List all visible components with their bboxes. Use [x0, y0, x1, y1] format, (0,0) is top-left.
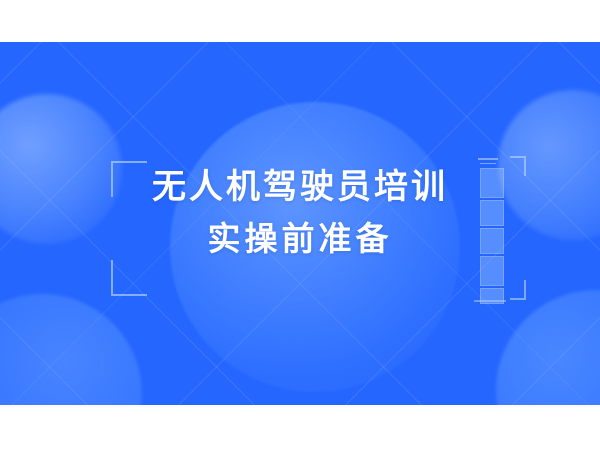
poster-canvas: 无人机驾驶员培训 实操前准备	[0, 0, 600, 450]
letterbox-top-band	[0, 0, 600, 42]
soft-circle-right-bottom-icon	[496, 290, 600, 405]
diamond-lattice-pattern	[0, 42, 600, 405]
soft-circle-left-bottom-icon	[0, 294, 142, 405]
ladder-gauge-decoration	[470, 152, 532, 310]
soft-circle-left-top-icon	[0, 94, 122, 244]
title-line-primary: 无人机驾驶员培训	[0, 162, 600, 214]
ladder-rung	[480, 288, 504, 304]
ladder-bracket-top-right-icon	[510, 156, 526, 176]
letterbox-bottom-band	[0, 405, 600, 450]
ladder-foot-line-icon	[474, 300, 506, 302]
title-line-secondary: 实操前准备	[0, 214, 600, 266]
title-block: 无人机驾驶员培训 实操前准备	[0, 162, 600, 266]
ladder-rung	[480, 168, 504, 198]
center-glow-circle-icon	[170, 102, 460, 392]
poster-stage: 无人机驾驶员培训 实操前准备	[0, 42, 600, 405]
ladder-rung	[480, 200, 504, 226]
soft-circle-right-top-icon	[498, 90, 600, 240]
ladder-rung	[480, 228, 504, 254]
corner-bracket-bottom-left-icon	[111, 260, 147, 296]
ladder-tick-upper-icon	[478, 158, 498, 160]
ladder-tick-lower-icon	[480, 163, 496, 164]
ladder-bracket-bottom-right-icon	[510, 280, 526, 300]
ladder-rung	[480, 256, 504, 286]
ladder-bar-stack	[480, 168, 504, 304]
corner-bracket-top-left-icon	[111, 161, 147, 197]
